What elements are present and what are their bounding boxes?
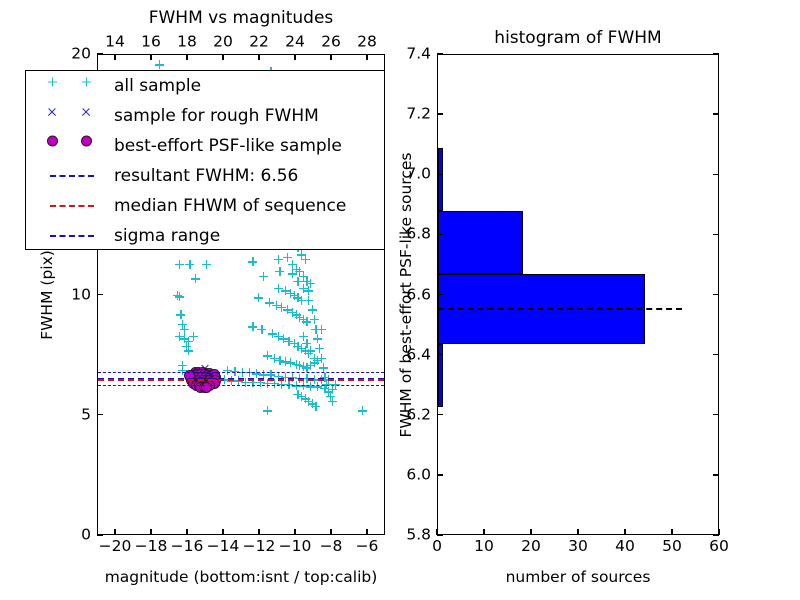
scatter-ylabel: FWHM (pix) (38, 250, 56, 340)
scatter-point-all (275, 267, 284, 276)
histogram-xtick (624, 529, 625, 535)
histogram-xtick (483, 529, 484, 535)
scatter-xticklabel-top: 22 (249, 35, 269, 51)
scatter-xticklabel-top: 26 (321, 35, 341, 51)
scatter-xticklabel-top: 18 (177, 35, 197, 51)
histogram-ytick-right (713, 174, 719, 175)
scatter-point-all (155, 60, 164, 69)
histogram-ytick-right (713, 474, 719, 475)
histogram-yticklabel: 6.4 (406, 347, 431, 363)
scatter-point-all (358, 406, 367, 415)
scatter-point-all (185, 260, 194, 269)
histogram-ytick-right (713, 234, 719, 235)
scatter-xtick-bottom (150, 529, 151, 535)
scatter-point-all (254, 293, 263, 302)
histogram-yticklabel: 6.2 (406, 407, 431, 423)
scatter-xtick-top (330, 54, 331, 60)
histogram-ytick (437, 534, 443, 535)
histogram-xtick (671, 529, 672, 535)
scatter-point-all (248, 322, 257, 331)
histogram-ytick (437, 234, 443, 235)
histogram-ytick (437, 354, 443, 355)
histogram-ytick (437, 414, 443, 415)
scatter-point-all (248, 257, 257, 266)
scatter-point-all (257, 325, 266, 334)
scatter-xtick-top (150, 54, 151, 60)
scatter-xticklabel-bottom: −18 (135, 539, 168, 555)
scatter-xtick-bottom (222, 529, 223, 535)
legend-x-icon (48, 107, 57, 116)
histogram-ytick (437, 294, 443, 295)
scatter-point-all (189, 332, 198, 341)
histogram-yticklabel: 6.6 (406, 287, 431, 303)
histogram-xticklabel: 60 (709, 539, 729, 555)
legend-item: best-effort PSF-like sample (26, 131, 384, 161)
scatter-xtick-top (114, 54, 115, 60)
figure-canvas: FWHM vs magnitudes magnitude (bottom:isn… (0, 0, 800, 600)
scatter-xticklabel-top: 24 (285, 35, 305, 51)
scatter-point-all (175, 292, 184, 301)
scatter-xtick-top (186, 54, 187, 60)
histogram-yticklabel: 7.2 (406, 106, 431, 122)
scatter-xtick-bottom (114, 529, 115, 535)
scatter-point-all (315, 344, 324, 353)
legend-item-label: median FHWM of sequence (114, 196, 346, 216)
histogram-xticklabel: 0 (432, 539, 442, 555)
scatter-xticklabel-bottom: −12 (243, 539, 276, 555)
legend-item-label: resultant FWHM: 6.56 (114, 166, 298, 186)
histogram-ytick-right (713, 113, 719, 114)
scatter-xtick-top (294, 54, 295, 60)
legend-item: resultant FWHM: 6.56 (26, 161, 384, 191)
legend-dashed-line-icon (50, 205, 94, 207)
histogram-yticklabel: 6.8 (406, 227, 431, 243)
scatter-point-all (304, 296, 313, 305)
scatter-xticklabel-bottom: −20 (99, 539, 132, 555)
scatter-xtick-bottom (186, 529, 187, 535)
histogram-plot-area (438, 55, 718, 534)
scatter-point-all (313, 334, 322, 343)
histogram-xtick (577, 529, 578, 535)
histogram-ytick (437, 174, 443, 175)
scatter-point-all (310, 354, 319, 363)
histogram-ytick-right (713, 294, 719, 295)
scatter-xticklabel-top: 28 (357, 35, 377, 51)
legend-x-icon (82, 107, 91, 116)
scatter-point-all (310, 315, 319, 324)
scatter-xlabel: magnitude (bottom:isnt / top:calib) (105, 568, 378, 586)
median-fwhm-line (98, 379, 384, 381)
scatter-point-all (175, 260, 184, 269)
scatter-point-all (263, 406, 272, 415)
legend-dashed-line-icon (50, 175, 94, 177)
histogram-xlabel: number of sources (506, 568, 651, 586)
histogram-axes (437, 54, 719, 535)
scatter-point-all (259, 272, 268, 281)
scatter-yticklabel: 0 (81, 527, 91, 543)
histogram-bar (438, 211, 523, 274)
legend-item-label: all sample (114, 76, 201, 96)
histogram-xticklabel: 30 (568, 539, 588, 555)
scatter-point-all (274, 255, 283, 264)
histogram-title: histogram of FWHM (494, 28, 661, 48)
scatter-point-all (202, 260, 211, 269)
legend-item: all sample (26, 71, 384, 101)
legend-plus-icon (82, 77, 91, 86)
scatter-xticklabel-top: 14 (105, 35, 125, 51)
scatter-xticklabel-bottom: −8 (320, 539, 343, 555)
scatter-point-all (191, 274, 200, 283)
scatter-xticklabel-bottom: −6 (356, 539, 379, 555)
histogram-xticklabel: 40 (615, 539, 635, 555)
scatter-xtick-bottom (294, 529, 295, 535)
scatter-xticklabel-top: 16 (141, 35, 161, 51)
legend-item-label: sigma range (114, 226, 220, 246)
scatter-xticklabel-bottom: −16 (171, 539, 204, 555)
scatter-xtick-top (366, 54, 367, 60)
legend-item: median FHWM of sequence (26, 191, 384, 221)
scatter-point-all (311, 325, 320, 334)
histogram-yticklabel: 5.8 (406, 527, 431, 543)
legend-item: sample for rough FWHM (26, 101, 384, 131)
scatter-xticklabel-top: 20 (213, 35, 233, 51)
scatter-ytick (97, 414, 103, 415)
scatter-point-all (328, 397, 337, 406)
histogram-ytick (437, 113, 443, 114)
histogram-ytick (437, 53, 443, 54)
histogram-yticklabel: 7.4 (406, 46, 431, 62)
scatter-xticklabel-bottom: −10 (279, 539, 312, 555)
scatter-point-all (184, 346, 193, 355)
scatter-xtick-bottom (258, 529, 259, 535)
scatter-xtick-top (222, 54, 223, 60)
scatter-yticklabel: 5 (81, 407, 91, 423)
legend-dot-icon (81, 135, 92, 146)
scatter-yticklabel: 10 (71, 287, 91, 303)
histogram-xticklabel: 20 (521, 539, 541, 555)
scatter-xtick-bottom (330, 529, 331, 535)
histogram-xtick (530, 529, 531, 535)
histogram-bar (438, 148, 443, 211)
histogram-xticklabel: 10 (474, 539, 494, 555)
legend: all samplesample for rough FWHMbest-effo… (25, 70, 385, 250)
legend-dashdot-line-icon (50, 235, 94, 237)
histogram-yticklabel: 7.0 (406, 167, 431, 183)
sigma-upper-line (98, 372, 384, 373)
scatter-ytick (97, 534, 103, 535)
scatter-ytick (97, 53, 103, 54)
histogram-xticklabel: 50 (662, 539, 682, 555)
histogram-ytick (437, 474, 443, 475)
scatter-point-all (176, 310, 185, 319)
scatter-yticklabel: 20 (71, 46, 91, 62)
scatter-xtick-top (258, 54, 259, 60)
scatter-point-all (299, 284, 308, 293)
scatter-point-all (301, 255, 310, 264)
sigma-lower-line (98, 385, 384, 386)
scatter-xtick-bottom (366, 529, 367, 535)
legend-dot-icon (47, 135, 58, 146)
scatter-ytick (97, 294, 103, 295)
scatter-point-psf (201, 382, 212, 393)
histogram-yticklabel: 6.0 (406, 467, 431, 483)
scatter-point-all (308, 305, 317, 314)
histogram-ytick-right (713, 534, 719, 535)
scatter-xticklabel-bottom: −14 (207, 539, 240, 555)
histogram-ytick-right (713, 414, 719, 415)
legend-item-label: sample for rough FWHM (114, 106, 319, 126)
histogram-ytick-right (713, 53, 719, 54)
legend-item: sigma range (26, 221, 384, 251)
scatter-title: FWHM vs magnitudes (149, 8, 334, 28)
histogram-median-line (438, 308, 682, 310)
legend-plus-icon (48, 77, 57, 86)
scatter-point-all (311, 402, 320, 411)
legend-item-label: best-effort PSF-like sample (114, 136, 342, 156)
histogram-ytick-right (713, 354, 719, 355)
